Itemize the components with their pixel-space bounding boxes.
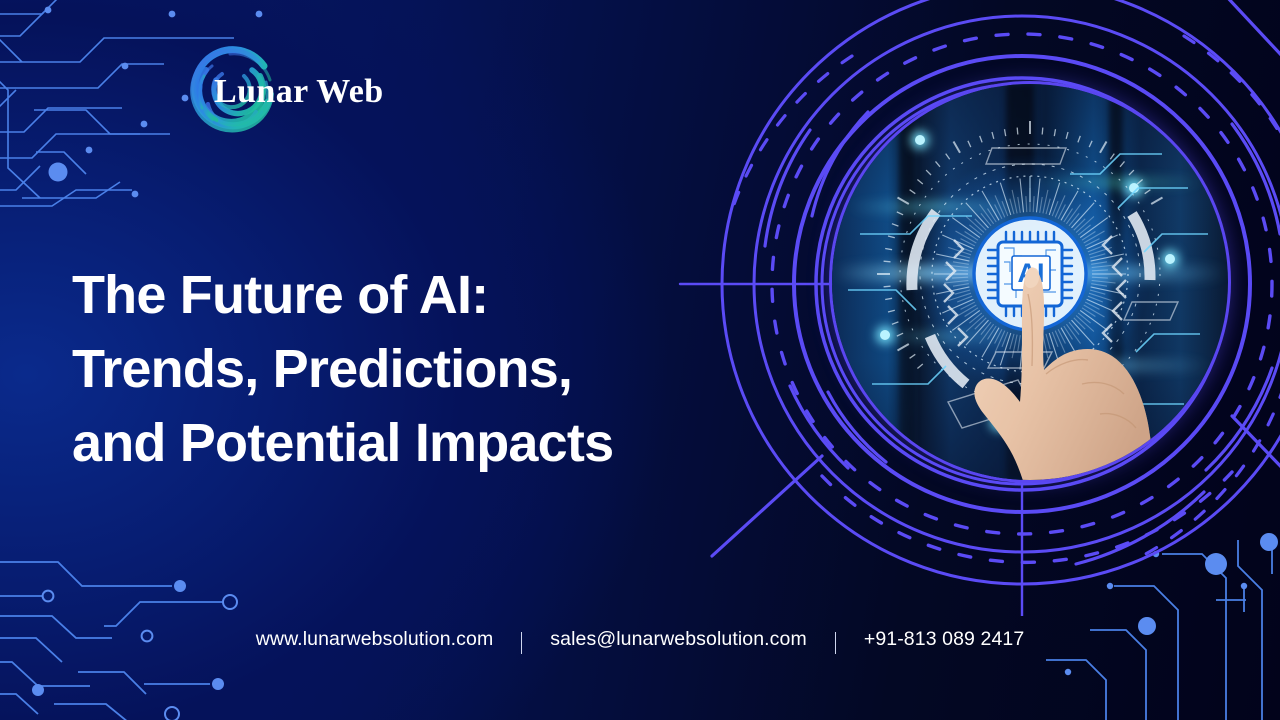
footer-separator <box>521 632 522 654</box>
contact-footer: www.lunarwebsolution.com sales@lunarwebs… <box>0 628 1280 651</box>
website-link[interactable]: www.lunarwebsolution.com <box>256 628 494 651</box>
brand-logo[interactable]: Lunar Web <box>186 46 382 138</box>
brand-name: Lunar Web <box>214 73 384 111</box>
headline-line-3: and Potential Impacts <box>72 406 732 480</box>
headline-line-1: The Future of AI: <box>72 258 732 332</box>
email-link[interactable]: sales@lunarwebsolution.com <box>550 628 807 651</box>
phone-number[interactable]: +91-813 089 2417 <box>864 628 1024 651</box>
page-title: The Future of AI: Trends, Predictions, a… <box>72 258 732 480</box>
hud-overlay: AI <box>832 84 1228 480</box>
hand-touching-ai-chip-image: AI <box>832 84 1228 480</box>
headline-line-2: Trends, Predictions, <box>72 332 732 406</box>
banner-canvas: AI <box>0 0 1280 720</box>
footer-separator <box>835 632 836 654</box>
